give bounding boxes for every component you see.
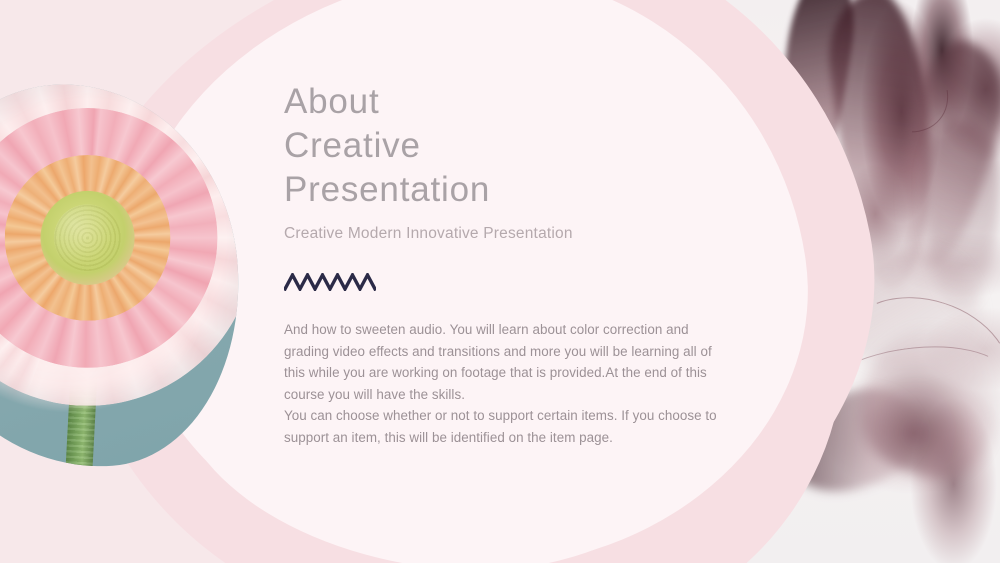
slide-subtitle: Creative Modern Innovative Presentation [284,225,734,243]
presentation-slide: About Creative Presentation Creative Mod… [0,0,1000,563]
zigzag-divider-icon [284,273,376,291]
flower-image-blob [0,73,251,479]
page-title: About Creative Presentation [284,80,734,212]
slide-content: About Creative Presentation Creative Mod… [284,80,734,462]
flower-center-disc [41,191,135,285]
slide-body-text: And how to sweeten audio. You will learn… [284,319,724,449]
gerbera-daisy-photo [0,73,251,479]
